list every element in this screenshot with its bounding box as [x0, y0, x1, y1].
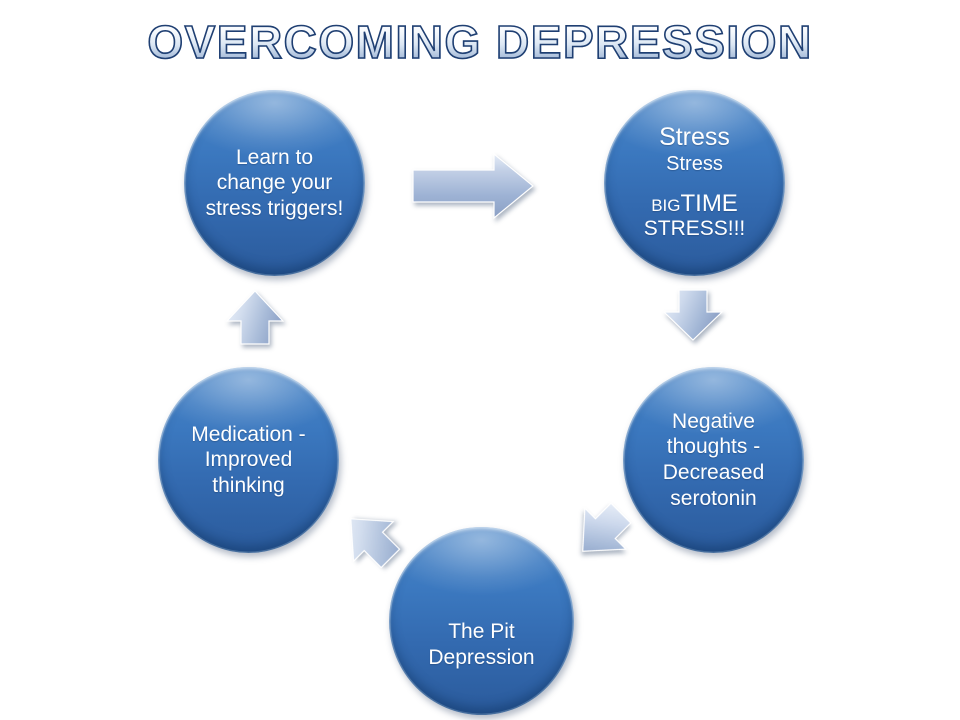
node-the-pit[interactable]: The Pit Depression — [389, 527, 574, 715]
slide-title-container: OVERCOMING DEPRESSION — [0, 18, 960, 66]
node-stress-line-1: Stress — [644, 124, 746, 152]
arrow-down-icon — [660, 288, 726, 343]
node-stress-line-4: STRESS!!! — [644, 217, 746, 241]
node-learn[interactable]: Learn to change your stress triggers! — [184, 90, 365, 276]
arrow-down-left-icon — [566, 502, 632, 568]
arrow-right-icon — [410, 152, 536, 222]
node-medication[interactable]: Medication - Improved thinking — [158, 367, 339, 553]
node-negative-thoughts[interactable]: Negative thoughts - Decreased serotonin — [623, 367, 804, 553]
node-stress-line-3: BIGTIME — [644, 190, 746, 218]
node-stress-line-2: Stress — [644, 152, 746, 177]
slide-canvas: OVERCOMING DEPRESSION Learn to change yo… — [0, 0, 960, 720]
node-negative-thoughts-label: Negative thoughts - Decreased serotonin — [623, 409, 804, 511]
node-stress-time-word: TIME — [680, 190, 737, 217]
page-title: OVERCOMING DEPRESSION — [147, 18, 812, 66]
arrow-up-icon — [224, 288, 286, 348]
node-stress-spacer — [644, 177, 746, 190]
node-stress[interactable]: Stress Stress BIGTIME STRESS!!! — [604, 90, 785, 276]
node-stress-big-word: BIG — [651, 196, 680, 215]
node-medication-label: Medication - Improved thinking — [158, 422, 339, 499]
arrow-up-left-icon — [338, 506, 406, 574]
node-learn-label: Learn to change your stress triggers! — [184, 145, 365, 222]
node-stress-label: Stress Stress BIGTIME STRESS!!! — [628, 124, 762, 241]
node-the-pit-label: The Pit Depression — [389, 619, 574, 670]
